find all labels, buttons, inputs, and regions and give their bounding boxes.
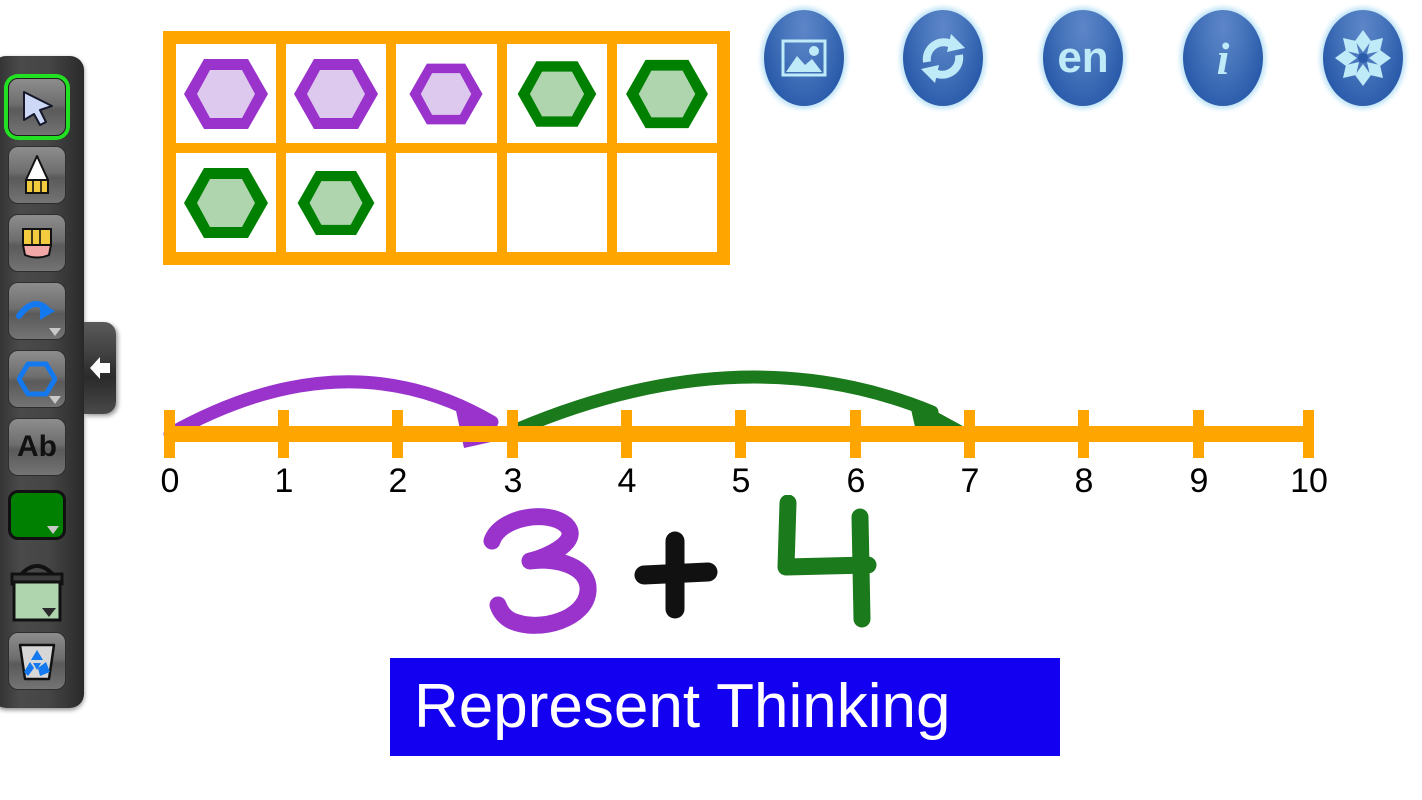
ten-frame-cell[interactable]: [507, 153, 607, 252]
equation-addend-1: [492, 517, 588, 626]
number-line-label: 7: [961, 462, 980, 501]
cursor-arrow-icon: [18, 88, 56, 126]
arrow-left-icon: [88, 355, 112, 381]
flower-asterisk-icon: [1335, 30, 1391, 86]
number-line-tick: [392, 410, 403, 458]
language-label: en: [1057, 33, 1108, 83]
number-line-tick: [964, 410, 975, 458]
equation-addend-2: [786, 503, 868, 619]
eraser-icon: [18, 225, 56, 261]
settings-button[interactable]: [1323, 10, 1403, 106]
info-button[interactable]: i: [1183, 10, 1263, 106]
tool-fill-color[interactable]: [6, 552, 68, 624]
title-banner: Represent Thinking: [390, 658, 1060, 756]
ten-frame-cell[interactable]: [176, 44, 276, 143]
hexagon-icon: [180, 54, 272, 134]
hexagon-icon: [294, 166, 378, 240]
chevron-down-icon: [47, 526, 59, 534]
ten-frame-cell[interactable]: [617, 153, 717, 252]
chevron-down-icon: [49, 328, 61, 336]
ten-frame-cell[interactable]: [396, 153, 496, 252]
number-line-svg: [0, 300, 1422, 510]
info-label: i: [1217, 32, 1230, 85]
curved-arrow-icon: [16, 296, 58, 326]
ten-frame-grid[interactable]: [163, 31, 730, 265]
number-line-tick: [164, 410, 175, 458]
number-line-label: 0: [161, 462, 180, 501]
pencil-icon: [19, 154, 55, 196]
number-line-tick: [621, 410, 632, 458]
ten-frame-cell[interactable]: [176, 153, 276, 252]
number-line-label: 8: [1075, 462, 1094, 501]
hexagon-icon: [622, 55, 712, 133]
number-line-label: 2: [389, 462, 408, 501]
hexagon-icon: [406, 58, 486, 130]
title-banner-text: Represent Thinking: [414, 676, 951, 738]
number-line-tick: [1193, 410, 1204, 458]
tool-pencil[interactable]: [8, 146, 66, 204]
number-line-label: 9: [1190, 462, 1209, 501]
tool-text[interactable]: Ab: [8, 418, 66, 476]
app-canvas: 0 1 2 3 4 5 6 7 8 9 10: [0, 0, 1422, 800]
paint-bucket-icon: [6, 552, 68, 624]
left-tool-palette[interactable]: Ab: [0, 56, 84, 708]
toolbar-collapse-handle[interactable]: [84, 322, 116, 414]
ten-frame-cell[interactable]: [286, 44, 386, 143]
image-icon: [780, 37, 828, 79]
number-line-tick: [507, 410, 518, 458]
tool-shape[interactable]: [8, 350, 66, 408]
number-line-tick: [850, 410, 861, 458]
tool-pointer[interactable]: [8, 78, 66, 136]
tool-trash[interactable]: [8, 632, 66, 690]
hexagon-icon: [17, 361, 57, 397]
number-line-tick: [735, 410, 746, 458]
ten-frame-cell[interactable]: [507, 44, 607, 143]
text-icon: Ab: [17, 432, 57, 462]
reset-button[interactable]: [903, 10, 983, 106]
ten-frame-cell[interactable]: [617, 44, 717, 143]
language-button[interactable]: en: [1043, 10, 1123, 106]
ten-frame-cell[interactable]: [396, 44, 496, 143]
tool-arrow[interactable]: [8, 282, 66, 340]
gallery-button[interactable]: [764, 10, 844, 106]
equation-svg: [470, 495, 950, 655]
number-line-label: 10: [1290, 462, 1328, 501]
number-line[interactable]: 0 1 2 3 4 5 6 7 8 9 10: [0, 300, 1422, 510]
hexagon-icon: [514, 56, 600, 132]
chevron-down-icon: [49, 396, 61, 404]
number-line-tick: [1303, 410, 1314, 458]
tool-line-color[interactable]: [8, 490, 66, 540]
number-line-tick: [1078, 410, 1089, 458]
handwritten-equation[interactable]: [470, 495, 950, 655]
hexagon-icon: [180, 163, 272, 243]
number-line-tick: [278, 410, 289, 458]
hexagon-icon: [290, 54, 382, 134]
number-line-label: 1: [275, 462, 294, 501]
equation-operator: [644, 541, 708, 609]
tool-eraser[interactable]: [8, 214, 66, 272]
ten-frame-cell[interactable]: [286, 153, 386, 252]
recycle-bin-icon: [15, 639, 59, 683]
refresh-icon: [917, 32, 969, 84]
